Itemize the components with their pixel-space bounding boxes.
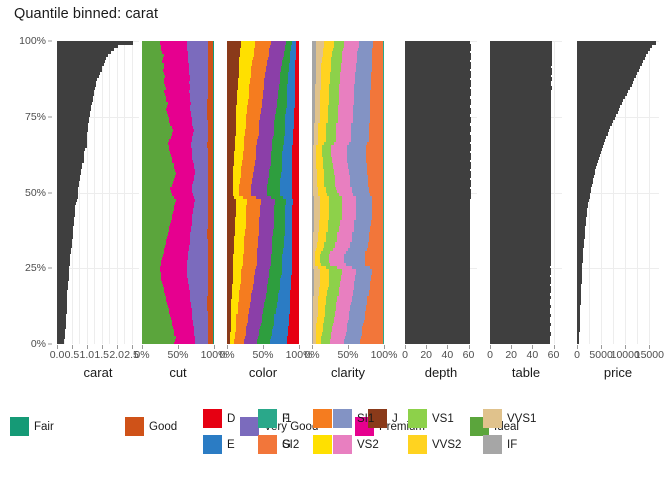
legend-label: D xyxy=(227,413,235,425)
y-axis-tick-mark xyxy=(48,268,52,269)
gridline-horizontal xyxy=(577,268,659,269)
facet-axis-title-price: price xyxy=(577,365,659,380)
legend-swatch-icon xyxy=(333,435,352,454)
bar-table xyxy=(490,41,552,45)
x-axis-tick-label: 1.0 xyxy=(80,349,95,361)
y-axis-tick-mark xyxy=(48,41,52,42)
legend-item-clarity-SI1[interactable]: SI1 xyxy=(333,409,374,428)
segment-Fair xyxy=(213,41,214,45)
segment-VS1 xyxy=(334,41,344,45)
stacked-bar-color xyxy=(227,41,299,45)
bar-depth xyxy=(405,41,470,45)
segment-SI1 xyxy=(359,41,373,45)
legend-label: J xyxy=(392,413,398,425)
x-axis-tick-label: 5000 xyxy=(589,349,612,361)
x-axis-tick-label: 50% xyxy=(252,349,273,361)
legend-swatch-icon xyxy=(240,417,259,436)
segment-Premium xyxy=(160,41,187,45)
y-axis: 0%25%50%75%100% xyxy=(0,0,55,480)
legend-item-cut-Fair[interactable]: Fair xyxy=(10,417,54,436)
legend-item-clarity-VVS2[interactable]: VVS2 xyxy=(408,435,461,454)
facet-panel-price xyxy=(577,41,659,344)
segment-VVS1 xyxy=(316,41,323,45)
bar-carat xyxy=(57,41,133,45)
x-axis-tick-label: 60 xyxy=(463,349,475,361)
x-axis-tick-label: 50% xyxy=(167,349,188,361)
legend-item-clarity-VVS1[interactable]: VVS1 xyxy=(483,409,536,428)
legend-label: I1 xyxy=(282,413,292,425)
legend-swatch-icon xyxy=(258,435,277,454)
legend-label: Good xyxy=(149,421,177,433)
legend-item-color-D[interactable]: D xyxy=(203,409,235,428)
legend-label: SI1 xyxy=(357,413,374,425)
legend-swatch-icon xyxy=(333,409,352,428)
x-axis-tick-label: 0.0 xyxy=(50,349,65,361)
legend-item-cut-Good[interactable]: Good xyxy=(125,417,177,436)
x-axis-tick-label: 40 xyxy=(442,349,454,361)
facet-panel-clarity xyxy=(312,41,384,344)
legend-swatch-icon xyxy=(313,435,332,454)
facet-axis-title-table: table xyxy=(490,365,562,380)
facet-panel-cut xyxy=(142,41,214,344)
y-axis-tick-label: 100% xyxy=(19,35,46,47)
legend-swatch-icon xyxy=(408,409,427,428)
gridline-horizontal xyxy=(57,268,139,269)
x-axis-tick-label: 2.0 xyxy=(109,349,124,361)
x-axis-tick-label: 100% xyxy=(371,349,398,361)
y-axis-tick-label: 75% xyxy=(25,111,46,123)
segment-D xyxy=(296,41,299,45)
y-axis-tick-mark xyxy=(48,192,52,193)
x-axis-tick-label: 0% xyxy=(134,349,149,361)
legend-swatch-icon xyxy=(203,435,222,454)
x-axis-tick-label: 40 xyxy=(527,349,539,361)
x-axis-tick-label: 1.5 xyxy=(94,349,109,361)
facet-axis-title-color: color xyxy=(227,365,299,380)
legend-item-clarity-VS1[interactable]: VS1 xyxy=(408,409,454,428)
chart-root: Quantile binned: carat 0%25%50%75%100% 0… xyxy=(0,0,672,480)
facet-panel-carat xyxy=(57,41,139,344)
x-axis-tick-label: 20 xyxy=(505,349,517,361)
segment-J xyxy=(227,41,241,45)
x-axis-tick-label: 0 xyxy=(487,349,493,361)
x-axis-tick-label: 60 xyxy=(548,349,560,361)
legend-item-clarity-VS2[interactable]: VS2 xyxy=(333,435,379,454)
legend-swatch-icon xyxy=(125,417,144,436)
stacked-bar-clarity xyxy=(312,41,384,45)
facet-axis-title-carat: carat xyxy=(57,365,139,380)
legend-label: VVS1 xyxy=(507,413,536,425)
x-axis-tick-label: 0% xyxy=(304,349,319,361)
legend-label: VVS2 xyxy=(432,439,461,451)
legend-item-clarity-I1[interactable]: I1 xyxy=(258,409,292,428)
segment-VVS2 xyxy=(324,41,334,45)
legend-swatch-icon xyxy=(313,409,332,428)
legend-label: Fair xyxy=(34,421,54,433)
segment-Ideal xyxy=(142,41,160,45)
legend-swatch-icon xyxy=(408,435,427,454)
legend-item-clarity-IF[interactable]: IF xyxy=(483,435,517,454)
x-axis-tick-label: 15000 xyxy=(635,349,664,361)
x-axis-tick-label: 0 xyxy=(574,349,580,361)
bar-price xyxy=(577,41,656,45)
x-axis-tick-label: 20 xyxy=(420,349,432,361)
stacked-bar-cut xyxy=(142,41,214,45)
legend-label: E xyxy=(227,439,235,451)
x-axis-tick-label: 0% xyxy=(219,349,234,361)
segment-G xyxy=(271,41,286,45)
legend-label: SI2 xyxy=(282,439,299,451)
segment-VS2 xyxy=(344,41,359,45)
segment-Very Good xyxy=(187,41,208,45)
legend-swatch-icon xyxy=(10,417,29,436)
x-axis-tick-label: 0 xyxy=(402,349,408,361)
facet-axis-title-cut: cut xyxy=(142,365,214,380)
facet-axis-title-clarity: clarity xyxy=(312,365,384,380)
x-axis-tick-label: 0.5 xyxy=(65,349,80,361)
facet-panel-table xyxy=(490,41,562,344)
segment-H xyxy=(255,41,271,45)
legend-item-color-E[interactable]: E xyxy=(203,435,235,454)
x-axis-tick-label: 50% xyxy=(337,349,358,361)
segment-I1 xyxy=(383,41,384,45)
legend-swatch-icon xyxy=(258,409,277,428)
facet-axis-title-depth: depth xyxy=(405,365,477,380)
legend-item-clarity-SI2[interactable]: SI2 xyxy=(258,435,299,454)
segment-SI2 xyxy=(373,41,383,45)
segment-I xyxy=(241,41,255,45)
y-axis-tick-label: 0% xyxy=(31,338,46,350)
legend-swatch-icon xyxy=(483,409,502,428)
y-axis-tick-label: 25% xyxy=(25,262,46,274)
y-axis-tick-label: 50% xyxy=(25,187,46,199)
legend-label: VS2 xyxy=(357,439,379,451)
y-axis-tick-mark xyxy=(48,116,52,117)
y-axis-tick-mark xyxy=(48,344,52,345)
legend-swatch-icon xyxy=(203,409,222,428)
legend-label: VS1 xyxy=(432,413,454,425)
facet-panel-depth xyxy=(405,41,477,344)
facet-panel-color xyxy=(227,41,299,344)
legend-label: IF xyxy=(507,439,517,451)
legend-swatch-icon xyxy=(483,435,502,454)
